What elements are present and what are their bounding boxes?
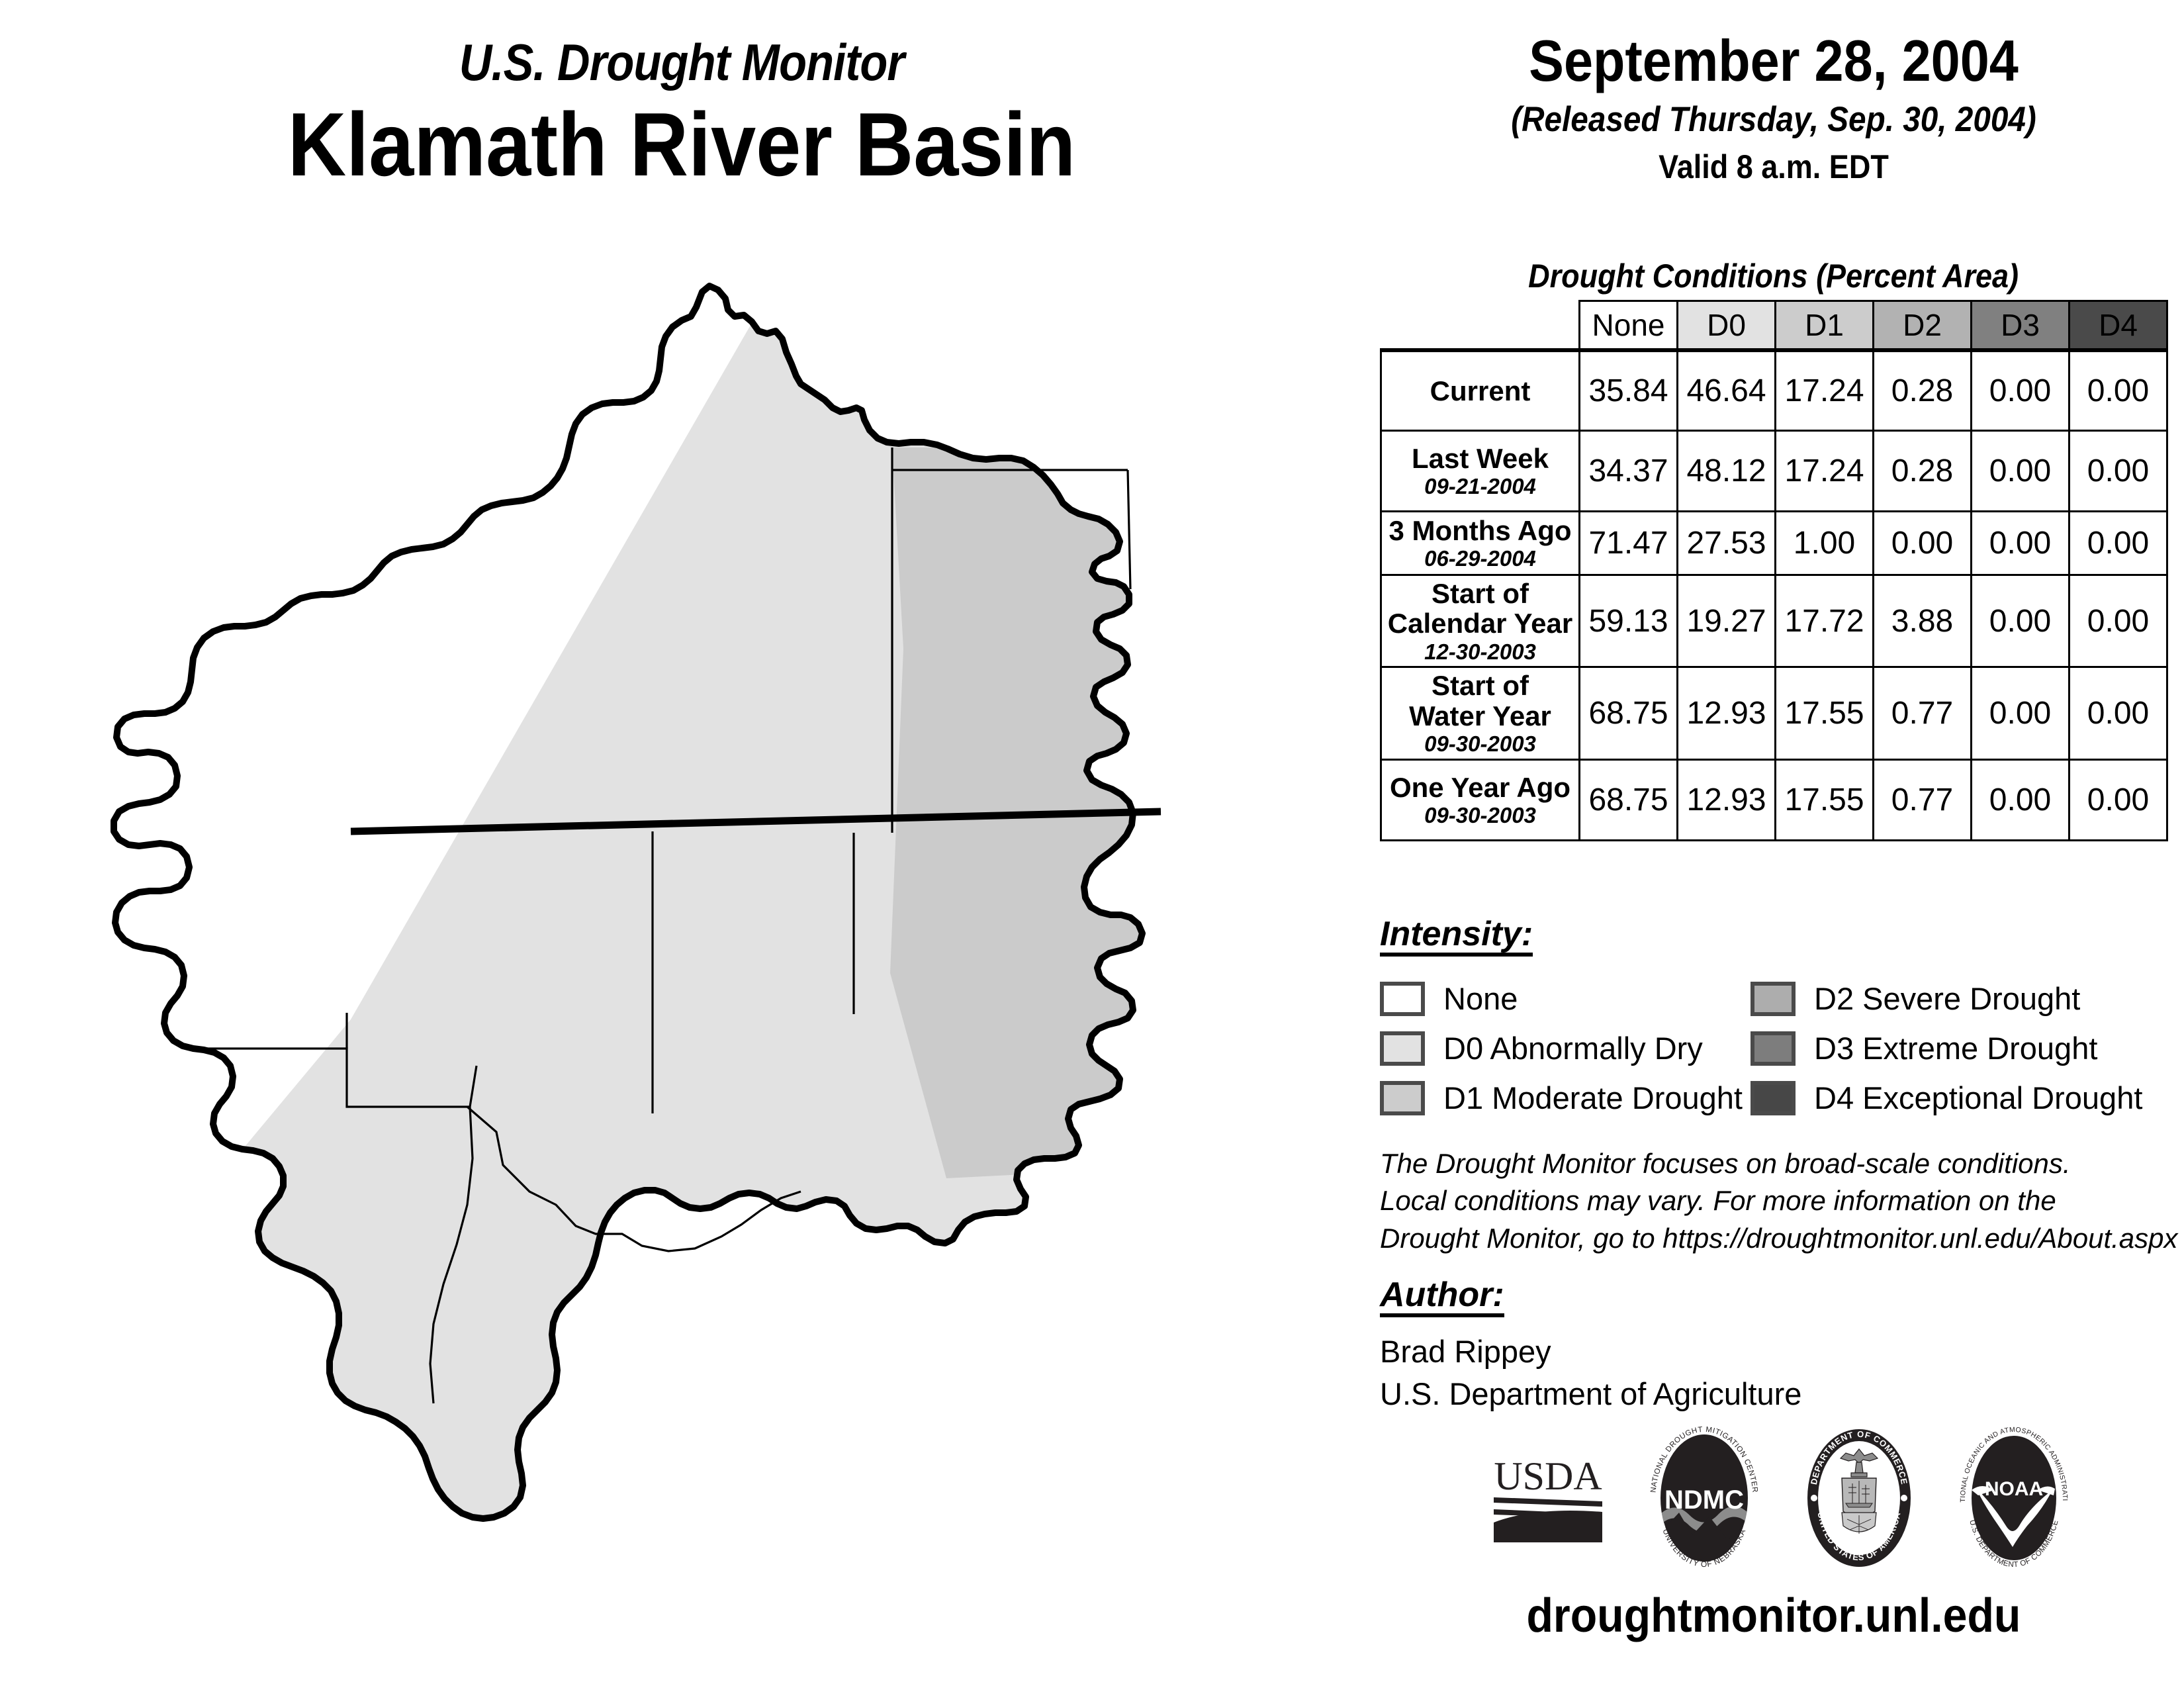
map-panel: U.S. Drought Monitor Klamath River Basin <box>0 0 1363 1688</box>
legend-item-d0: D0 Abnormally Dry <box>1380 1023 1751 1073</box>
disclaimer-text: The Drought Monitor focuses on broad-sca… <box>1380 1145 2181 1257</box>
legend-item-none: None <box>1380 974 1751 1023</box>
valid-time: Valid 8 a.m. EDT <box>1404 150 2143 183</box>
cell-last-week-d3: 0.00 <box>1972 431 2070 512</box>
cell-cal-year-d3: 0.00 <box>1972 575 2070 667</box>
cell-one-year-none: 68.75 <box>1580 759 1678 840</box>
disclaimer-line-3: Drought Monitor, go to https://droughtmo… <box>1380 1220 2181 1257</box>
table-corner-cell <box>1381 301 1580 350</box>
cell-cal-year-d0: 19.27 <box>1678 575 1776 667</box>
cell-3-months-d1: 1.00 <box>1776 512 1874 575</box>
cell-water-year-d2: 0.77 <box>1874 667 1972 759</box>
swatch-none-icon <box>1380 982 1425 1016</box>
footer-url-text: droughtmonitor.unl.edu <box>1527 1589 2021 1643</box>
legend-label-none: None <box>1443 980 1518 1017</box>
cell-one-year-d3: 0.00 <box>1972 759 2070 840</box>
cell-last-week-d2: 0.28 <box>1874 431 1972 512</box>
legend-item-d3: D3 Extreme Drought <box>1751 1023 2161 1073</box>
cell-current-d1: 17.24 <box>1776 350 1874 431</box>
legend-label-d0: D0 Abnormally Dry <box>1443 1030 1703 1066</box>
row-label-current: Current <box>1381 350 1580 431</box>
row-label-text: 3 Months Ago <box>1388 515 1571 546</box>
row-label-text: Last Week <box>1412 443 1549 474</box>
row-label-text: Start ofCalendar Year <box>1388 578 1572 639</box>
report-date: September 28, 2004 <box>1404 32 2143 90</box>
disclaimer-line-2: Local conditions may vary. For more info… <box>1380 1182 2181 1219</box>
cell-water-year-d3: 0.00 <box>1972 667 2070 759</box>
col-header-d2: D2 <box>1874 301 1972 350</box>
row-label-date: 09-30-2003 <box>1386 804 1574 827</box>
author-heading: Author: <box>1380 1278 1504 1317</box>
table-caption: Drought Conditions (Percent Area) <box>1363 257 2184 295</box>
cell-one-year-d0: 12.93 <box>1678 759 1776 840</box>
cell-last-week-none: 34.37 <box>1580 431 1678 512</box>
author-name: Brad Rippey <box>1380 1332 2174 1372</box>
ndmc-logo-text: NDMC <box>1664 1485 1744 1515</box>
row-label-3-months-ago: 3 Months Ago 06-29-2004 <box>1381 512 1580 575</box>
table-row: Start ofCalendar Year 12-30-2003 59.13 1… <box>1381 575 2167 667</box>
swatch-d1-icon <box>1380 1081 1425 1115</box>
cell-3-months-d4: 0.00 <box>2070 512 2167 575</box>
cell-3-months-d2: 0.00 <box>1874 512 1972 575</box>
cell-current-d4: 0.00 <box>2070 350 2167 431</box>
cell-water-year-d1: 17.55 <box>1776 667 1874 759</box>
table-row: Current 35.84 46.64 17.24 0.28 0.00 0.00 <box>1381 350 2167 431</box>
cell-one-year-d1: 17.55 <box>1776 759 1874 840</box>
col-header-d1: D1 <box>1776 301 1874 350</box>
cell-one-year-d2: 0.77 <box>1874 759 1972 840</box>
col-header-none: None <box>1580 301 1678 350</box>
cell-3-months-d0: 27.53 <box>1678 512 1776 575</box>
row-label-date: 12-30-2003 <box>1386 640 1574 664</box>
drought-conditions-table: None D0 D1 D2 D3 D4 Current 35.84 46.64 … <box>1380 300 2168 841</box>
cell-one-year-d4: 0.00 <box>2070 759 2167 840</box>
row-label-date: 09-21-2004 <box>1386 475 1574 498</box>
cell-last-week-d1: 17.24 <box>1776 431 1874 512</box>
row-label-text: One Year Ago <box>1390 772 1570 803</box>
cell-current-d2: 0.28 <box>1874 350 1972 431</box>
table-caption-text: Drought Conditions (Percent Area) <box>1529 257 2019 295</box>
legend-label-d4: D4 Exceptional Drought <box>1814 1080 2142 1116</box>
swatch-d2-icon <box>1751 982 1796 1016</box>
info-panel: September 28, 2004 (Released Thursday, S… <box>1363 0 2184 1688</box>
table-row: 3 Months Ago 06-29-2004 71.47 27.53 1.00… <box>1381 512 2167 575</box>
intensity-legend: Intensity: None D2 Severe Drought D0 Abn… <box>1380 917 2174 1123</box>
department-of-commerce-seal[interactable]: DEPARTMENT OF COMMERCE UNITED STATES OF … <box>1801 1427 1917 1573</box>
klamath-river-basin-map[interactable] <box>73 278 1330 1562</box>
cell-water-year-d0: 12.93 <box>1678 667 1776 759</box>
table-row: Start ofWater Year 09-30-2003 68.75 12.9… <box>1381 667 2167 759</box>
cell-cal-year-d2: 3.88 <box>1874 575 1972 667</box>
map-svg <box>73 278 1330 1562</box>
row-label-text: Current <box>1430 375 1531 406</box>
cell-last-week-d0: 48.12 <box>1678 431 1776 512</box>
row-label-start-of-calendar-year: Start ofCalendar Year 12-30-2003 <box>1381 575 1580 667</box>
region-title: Klamath River Basin <box>68 97 1295 192</box>
legend-label-d3: D3 Extreme Drought <box>1814 1030 2097 1066</box>
noaa-logo[interactable]: NOAA NATIONAL OCEANIC AND ATMOSPHERIC AD… <box>1956 1427 2072 1573</box>
swatch-d4-icon <box>1751 1081 1796 1115</box>
row-label-text: Start ofWater Year <box>1409 670 1551 731</box>
release-date: (Released Thursday, Sep. 30, 2004) <box>1404 102 2143 137</box>
cell-current-d0: 46.64 <box>1678 350 1776 431</box>
row-label-start-of-water-year: Start ofWater Year 09-30-2003 <box>1381 667 1580 759</box>
usda-logo[interactable]: USDA <box>1488 1448 1608 1551</box>
intensity-heading: Intensity: <box>1380 917 1533 957</box>
footer-url[interactable]: droughtmonitor.unl.edu <box>1363 1589 2184 1643</box>
table-row: One Year Ago 09-30-2003 68.75 12.93 17.5… <box>1381 759 2167 840</box>
cell-water-year-d4: 0.00 <box>2070 667 2167 759</box>
legend-label-d1: D1 Moderate Drought <box>1443 1080 1743 1116</box>
legend-grid: None D2 Severe Drought D0 Abnormally Dry… <box>1380 974 2174 1123</box>
row-label-one-year-ago: One Year Ago 09-30-2003 <box>1381 759 1580 840</box>
ndmc-logo[interactable]: NDMC NATIONAL DROUGHT MITIGATION CENTER … <box>1646 1427 1762 1573</box>
row-label-last-week: Last Week 09-21-2004 <box>1381 431 1580 512</box>
agency-logos: USDA NDMC NATION <box>1377 1423 2184 1575</box>
program-title: U.S. Drought Monitor <box>82 36 1282 88</box>
date-block: September 28, 2004 (Released Thursday, S… <box>1363 32 2184 183</box>
legend-item-d2: D2 Severe Drought <box>1751 974 2161 1023</box>
disclaimer-line-1: The Drought Monitor focuses on broad-sca… <box>1380 1145 2181 1182</box>
col-header-d4: D4 <box>2070 301 2167 350</box>
title-block: U.S. Drought Monitor Klamath River Basin <box>0 36 1363 192</box>
table-header-row: None D0 D1 D2 D3 D4 <box>1381 301 2167 350</box>
usda-logo-text: USDA <box>1494 1454 1602 1498</box>
cell-cal-year-none: 59.13 <box>1580 575 1678 667</box>
swatch-d3-icon <box>1751 1031 1796 1066</box>
cell-cal-year-d4: 0.00 <box>2070 575 2167 667</box>
table-row: Last Week 09-21-2004 34.37 48.12 17.24 0… <box>1381 431 2167 512</box>
author-affiliation: U.S. Department of Agriculture <box>1380 1374 2174 1414</box>
swatch-d0-icon <box>1380 1031 1425 1066</box>
cell-current-d3: 0.00 <box>1972 350 2070 431</box>
row-label-date: 06-29-2004 <box>1386 547 1574 571</box>
cell-current-none: 35.84 <box>1580 350 1678 431</box>
col-header-d0: D0 <box>1678 301 1776 350</box>
noaa-logo-text: NOAA <box>1985 1478 2043 1500</box>
cell-cal-year-d1: 17.72 <box>1776 575 1874 667</box>
author-names: Brad Rippey U.S. Department of Agricultu… <box>1380 1332 2174 1414</box>
author-block: Author: Brad Rippey U.S. Department of A… <box>1380 1278 2174 1414</box>
cell-3-months-d3: 0.00 <box>1972 512 2070 575</box>
row-label-date: 09-30-2003 <box>1386 732 1574 756</box>
cell-last-week-d4: 0.00 <box>2070 431 2167 512</box>
cell-3-months-none: 71.47 <box>1580 512 1678 575</box>
legend-label-d2: D2 Severe Drought <box>1814 980 2080 1017</box>
map-fill-layer <box>73 278 1330 1562</box>
legend-item-d4: D4 Exceptional Drought <box>1751 1073 2161 1123</box>
col-header-d3: D3 <box>1972 301 2070 350</box>
cell-water-year-none: 68.75 <box>1580 667 1678 759</box>
legend-item-d1: D1 Moderate Drought <box>1380 1073 1751 1123</box>
